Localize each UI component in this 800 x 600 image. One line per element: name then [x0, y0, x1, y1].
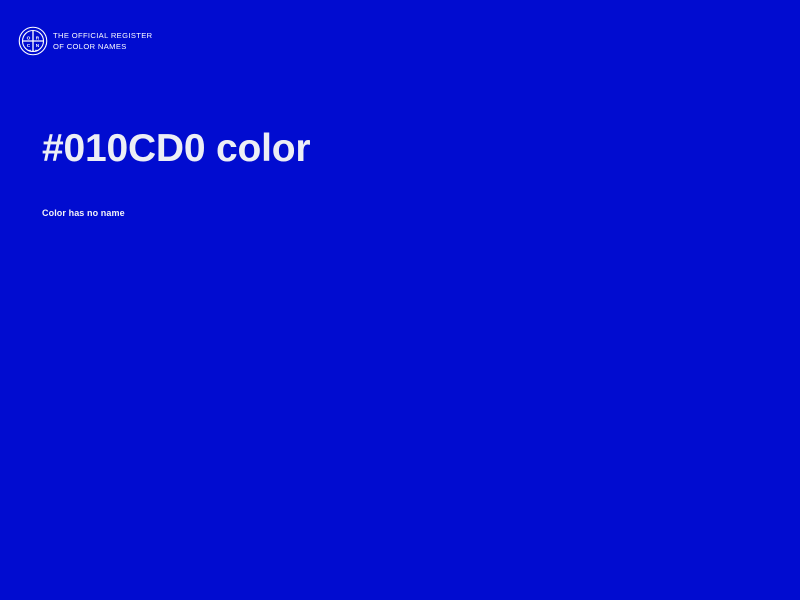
- color-page: O R C N THE OFFICIAL REGISTER OF COLOR N…: [0, 0, 800, 600]
- page-title: #010CD0 color: [42, 126, 742, 172]
- svg-text:R: R: [36, 35, 40, 41]
- svg-text:C: C: [27, 43, 31, 49]
- brand-lockup[interactable]: O R C N THE OFFICIAL REGISTER OF COLOR N…: [18, 26, 152, 56]
- brand-name: THE OFFICIAL REGISTER OF COLOR NAMES: [53, 30, 152, 52]
- svg-text:O: O: [27, 35, 31, 41]
- brand-line-1: THE OFFICIAL REGISTER: [53, 31, 152, 41]
- color-info-block: #010CD0 color Color has no name: [42, 126, 742, 219]
- svg-text:N: N: [36, 43, 40, 49]
- brand-line-2: OF COLOR NAMES: [53, 42, 152, 52]
- register-seal-icon: O R C N: [18, 26, 48, 56]
- color-name-status: Color has no name: [42, 172, 742, 219]
